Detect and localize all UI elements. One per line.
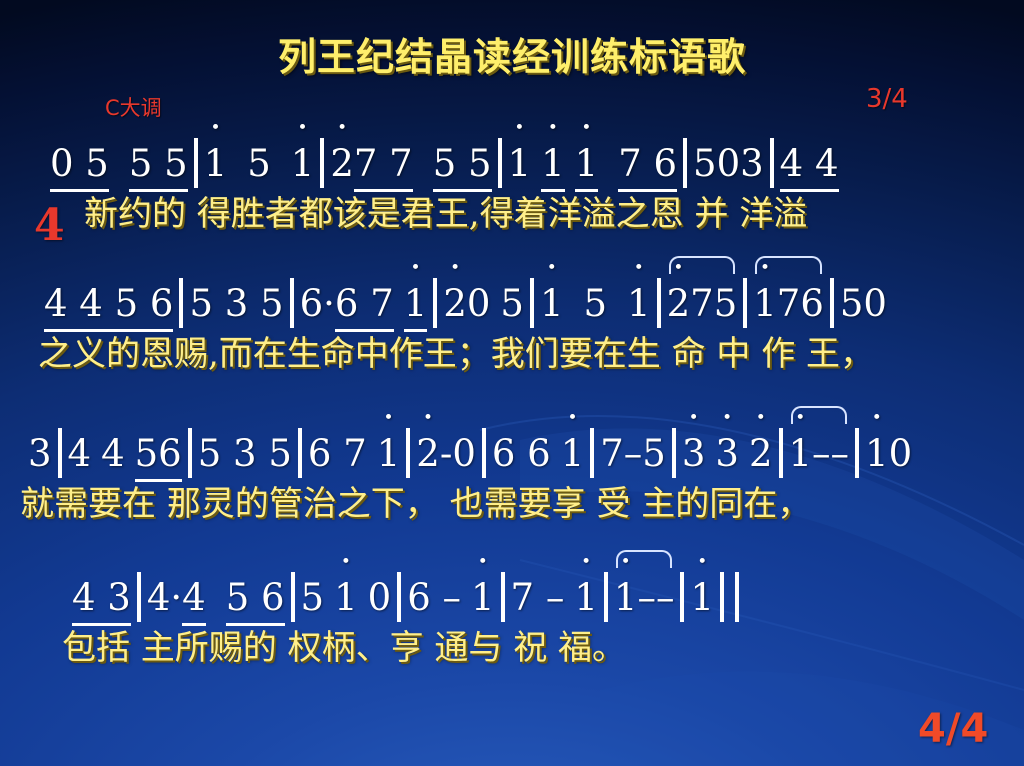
note: 2: [416, 430, 440, 478]
lyrics-line-1: 新约的 得胜者都该是君王,得着洋溢之恩 并 洋溢: [0, 192, 1024, 236]
barline: [137, 572, 141, 622]
note: 4: [68, 430, 92, 478]
note: 7: [777, 280, 801, 328]
note: 1: [540, 280, 564, 328]
note-group: 6 7: [335, 280, 394, 332]
note: 1: [690, 574, 714, 622]
note: 4: [101, 430, 125, 478]
barline: [298, 428, 302, 478]
note-group: 7 6: [618, 140, 677, 192]
note: 5: [500, 280, 524, 328]
note: 1: [789, 430, 813, 478]
note: 2: [749, 430, 773, 478]
note: 2: [443, 280, 467, 328]
note: 5: [247, 140, 271, 188]
music-system-2: 4 4 5 65 3 56·6 7120515127517650 之义的恩赐,而…: [0, 278, 1024, 376]
note: 3: [715, 430, 739, 478]
music-system-1: 0 55 515127 75 51117 65034 4 4 新约的 得胜者都该…: [0, 138, 1024, 236]
note: 1: [541, 140, 565, 192]
barline: [406, 428, 410, 478]
note: 1: [291, 140, 315, 188]
note: 1: [508, 140, 532, 188]
key-signature-label: C大调: [105, 92, 162, 122]
note: 1: [575, 140, 599, 192]
note-group: 6 7: [308, 430, 367, 478]
note-group: 5 3 5: [198, 430, 292, 478]
barline: [855, 428, 859, 478]
note-group: 50: [840, 280, 887, 328]
page-number: 4/4: [918, 706, 988, 752]
page-title: 列王纪结晶读经训练标语歌: [0, 26, 1024, 81]
barline: [604, 572, 608, 622]
note: 1: [471, 574, 495, 622]
note: 7: [690, 280, 714, 328]
notation-line-4: 4 34·45 65106 –17 –11––1: [0, 572, 1024, 626]
note: 5: [714, 280, 738, 328]
lyrics-line-2: 之义的恩赐,而在生命中作王；我们要在生 命 中 作 王，: [0, 332, 1024, 376]
barline: [779, 428, 783, 478]
barline: [397, 572, 401, 622]
note-group: 6 6: [492, 430, 551, 478]
barline: [179, 278, 183, 328]
barline: [830, 278, 834, 328]
barline: [530, 278, 534, 328]
lyrics-line-4: 包括 主所赐的 权柄、亨 通与 祝 福。: [0, 626, 1024, 670]
note-group: 7 –: [511, 574, 565, 622]
barline: [291, 572, 295, 622]
triplet-group: 176: [753, 280, 824, 328]
note-group: 6 –: [407, 574, 461, 622]
tie-group: 1––: [614, 574, 675, 622]
note-group: 0 5: [50, 140, 109, 192]
music-system-3: 344565 3 56 712-06 617–53321––10 就需要在 那灵…: [0, 428, 1024, 526]
note: 1: [614, 574, 638, 622]
note-group: 56: [135, 430, 182, 482]
barline: [290, 278, 294, 328]
note: 1: [404, 280, 428, 332]
note-group: 4 4 5 6: [44, 280, 173, 332]
note: 1: [334, 574, 358, 622]
note-group: 503: [693, 140, 764, 188]
barline: [498, 138, 502, 188]
note: ––: [812, 430, 849, 478]
barline: [433, 278, 437, 328]
barline: [743, 278, 747, 328]
note: 1: [865, 430, 889, 478]
note-group: 5 5: [129, 140, 188, 192]
note: 0: [467, 280, 491, 328]
barline: [482, 428, 486, 478]
note: 1: [561, 430, 585, 478]
barline: [320, 138, 324, 188]
note-group: 5 3 5: [189, 280, 283, 328]
barline: [194, 138, 198, 188]
note-group: -0: [440, 430, 476, 478]
notation-line-1: 0 55 515127 75 51117 65034 4: [0, 138, 1024, 192]
barline: [680, 572, 684, 622]
notation-line-3: 344565 3 56 712-06 617–53321––10: [0, 428, 1024, 482]
note-group: 7–5: [600, 430, 666, 478]
pickup-beat-marker: 4: [34, 200, 65, 251]
note-group: 7 7: [354, 140, 413, 192]
barline: [58, 428, 62, 478]
note: 1: [574, 574, 598, 622]
note: 0: [889, 430, 913, 478]
time-signature-label: 3/4: [866, 84, 908, 114]
music-system-4: 4 34·45 65106 –17 –11––1 包括 主所赐的 权柄、亨 通与…: [0, 572, 1024, 670]
note: 4·: [147, 574, 182, 622]
note-group: 4 4: [780, 140, 839, 192]
tie-group: 1––: [789, 430, 850, 478]
note: 0: [368, 574, 392, 622]
note-group: 5 6: [226, 574, 285, 626]
note: 6: [800, 280, 824, 328]
note: 4: [182, 574, 206, 626]
note: 3: [682, 430, 706, 478]
triplet-group: 275: [667, 280, 738, 328]
final-barline: [720, 572, 739, 622]
note: 1: [377, 430, 401, 478]
barline: [501, 572, 505, 622]
note: 6·: [300, 280, 335, 328]
barline: [683, 138, 687, 188]
slide-canvas: 列王纪结晶读经训练标语歌 C大调 3/4 0 55 515127 75 5111…: [0, 0, 1024, 766]
lyrics-line-3: 就需要在 那灵的管治之下， 也需要享 受 主的同在，: [0, 482, 1024, 526]
note: 3: [28, 430, 52, 478]
note: 1: [627, 280, 651, 328]
note: 5: [301, 574, 325, 622]
note: 1: [753, 280, 777, 328]
note: 2: [330, 140, 354, 188]
barline: [188, 428, 192, 478]
barline: [657, 278, 661, 328]
barline: [590, 428, 594, 478]
barline: [770, 138, 774, 188]
note: 2: [667, 280, 691, 328]
note-group: 4 3: [72, 574, 131, 626]
notation-line-2: 4 4 5 65 3 56·6 7120515127517650: [0, 278, 1024, 332]
barline: [672, 428, 676, 478]
note: 1: [204, 140, 228, 188]
note: ––: [637, 574, 674, 622]
note: 5: [584, 280, 608, 328]
note-group: 5 5: [433, 140, 492, 192]
